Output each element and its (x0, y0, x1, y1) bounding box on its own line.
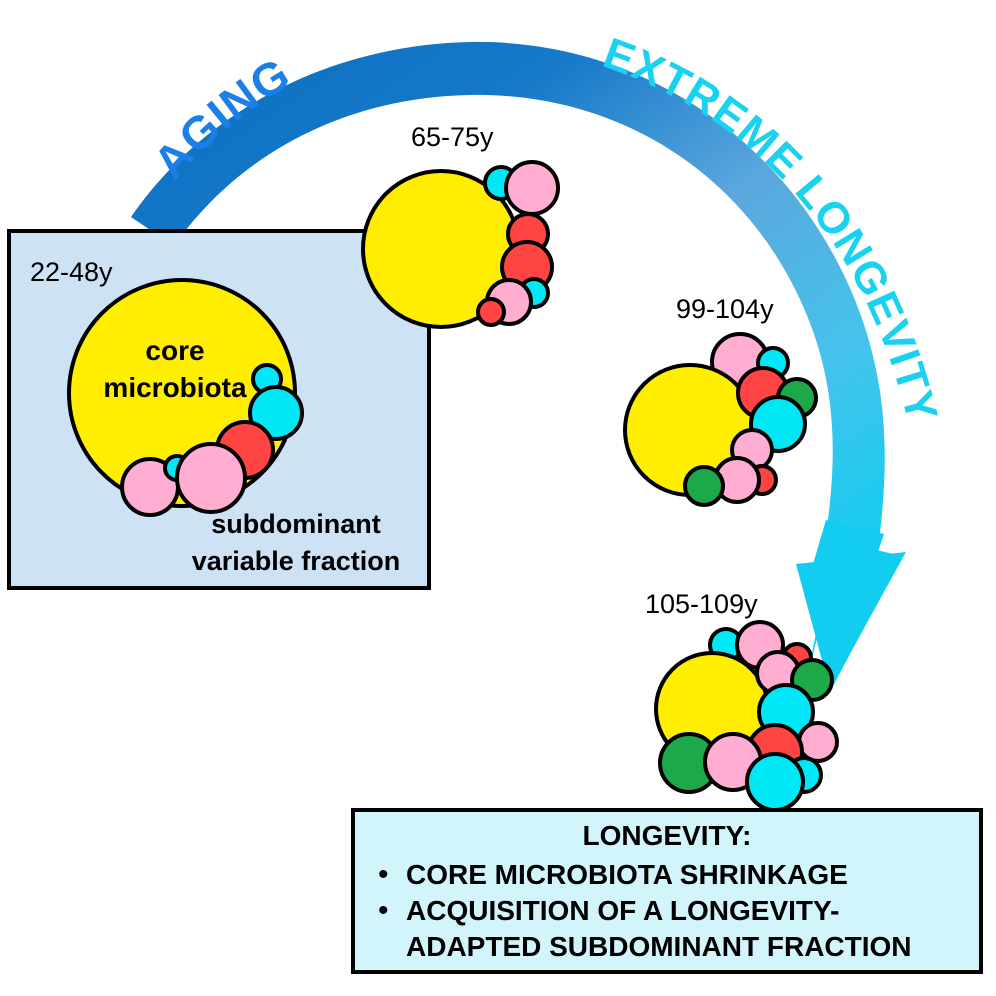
subdominant-fraction-label-line1: subdominant (211, 509, 381, 539)
longevity-callout-item-1-line-1: CORE MICROBIOTA SHRINKAGE (406, 859, 848, 890)
stage-65-75-age-label: 65-75y (411, 122, 494, 152)
bullet-icon: • (378, 894, 389, 927)
satellite-circle (747, 754, 803, 810)
satellite-circle (478, 299, 504, 325)
satellite-circle (685, 467, 723, 505)
core-microbiota-label-line2: microbiota (103, 372, 247, 403)
stage-99-104-age-label: 99-104y (676, 294, 774, 324)
stage-22-48-age-label: 22-48y (30, 257, 113, 287)
longevity-callout-title: LONGEVITY: (582, 820, 751, 851)
core-microbiota-label-line1: core (145, 335, 204, 366)
satellite-circle (799, 723, 837, 761)
stage-99-104: 99-104y (625, 294, 816, 505)
figure-root: AGING EXTREME LONGEVITY 65-75y 22-48y (0, 0, 996, 996)
longevity-callout: LONGEVITY: • CORE MICROBIOTA SHRINKAGE •… (353, 810, 981, 972)
stage-105-109: 105-109y (645, 589, 837, 810)
satellite-circle (177, 444, 245, 512)
longevity-callout-item-2-line-1: ACQUISITION OF A LONGEVITY- (406, 895, 840, 926)
stage-65-75: 65-75y (363, 122, 558, 327)
longevity-callout-item-2-line-2: ADAPTED SUBDOMINANT FRACTION (406, 931, 912, 962)
stage-105-109-age-label: 105-109y (645, 589, 758, 619)
diagram-canvas: AGING EXTREME LONGEVITY 65-75y 22-48y (0, 0, 996, 996)
bullet-icon: • (378, 858, 389, 891)
subdominant-fraction-label-line2: variable fraction (192, 546, 401, 576)
satellite-circle (506, 162, 558, 214)
